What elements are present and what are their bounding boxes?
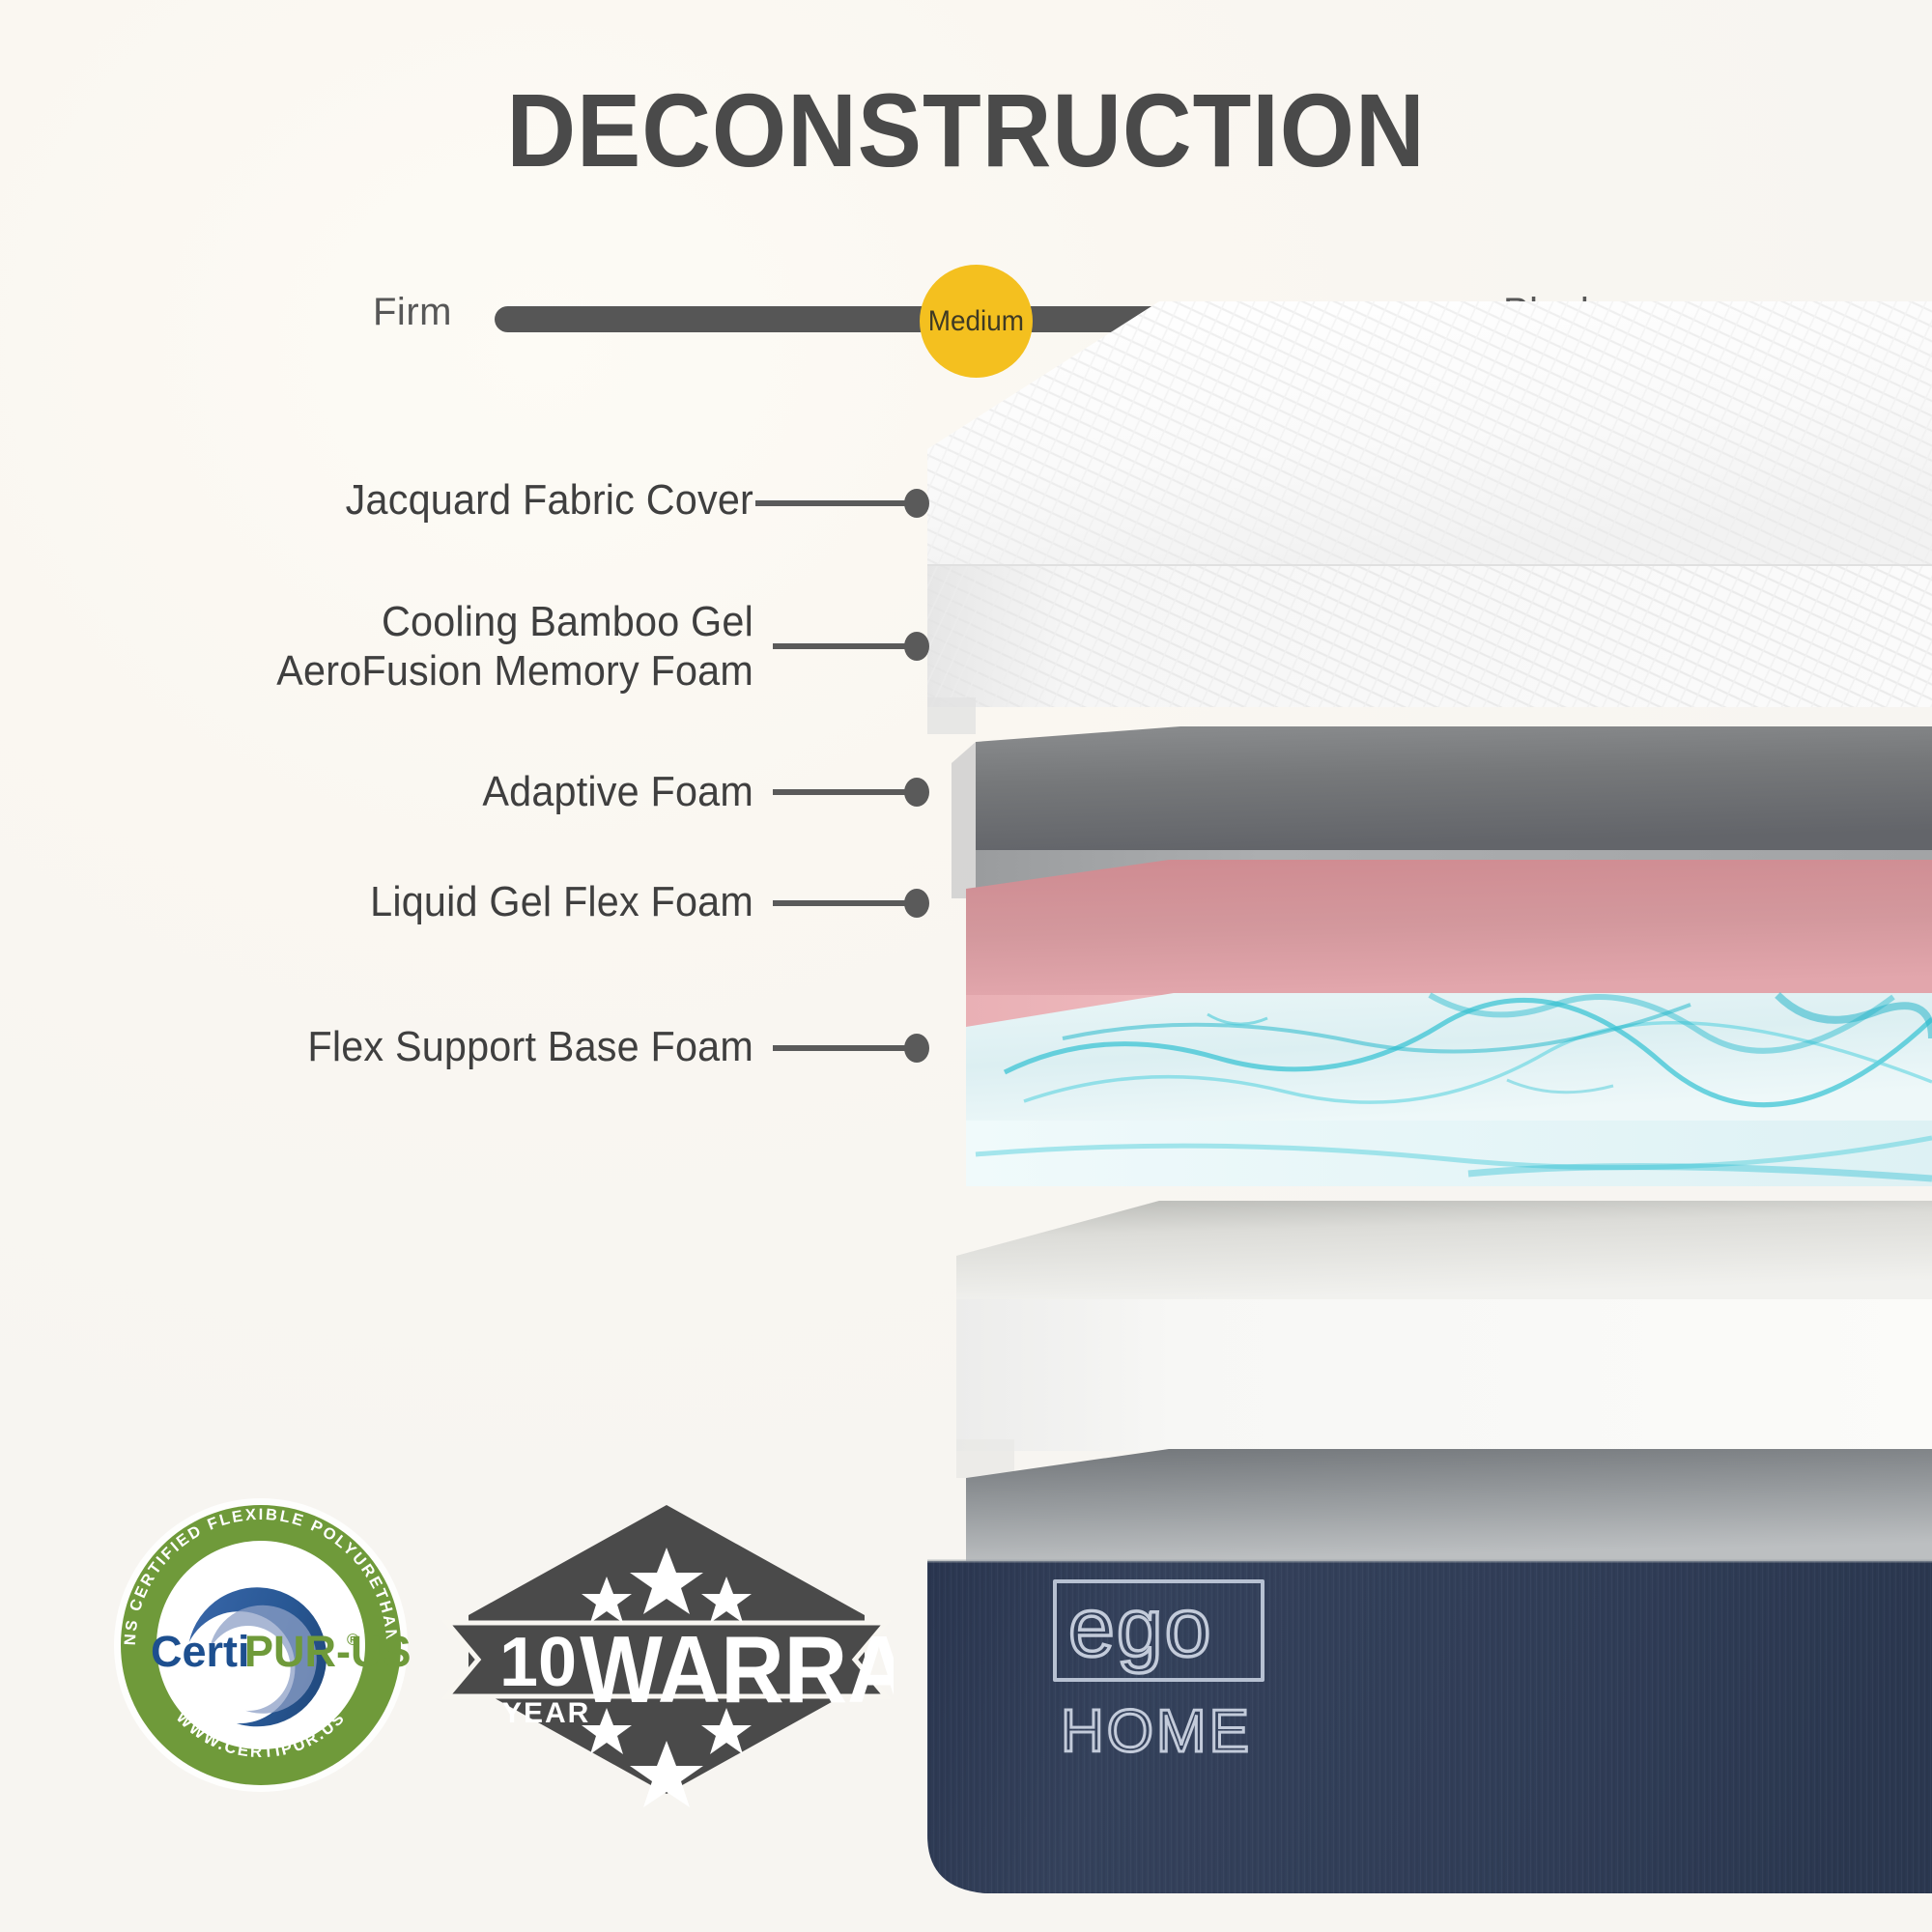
layer-liquid-gel-flex-foam: [966, 993, 1932, 1186]
callout-label-flex-support-base-foam: Flex Support Base Foam: [136, 1022, 753, 1071]
callout-label-adaptive-foam: Adaptive Foam: [172, 767, 753, 816]
leader-dot-adaptive-foam: [904, 778, 929, 807]
warranty-badge: 10 YEAR WARRANTY: [440, 1488, 894, 1811]
callout-label-cooling-bamboo-gel-aerofusion-memory-foam: Cooling Bamboo Gel AeroFusion Memory Foa…: [99, 597, 753, 696]
infographic-canvas: DECONSTRUCTION Firm Plush Medium: [0, 0, 1932, 1932]
svg-text:PUR-US: PUR-US: [244, 1627, 412, 1676]
certipur-wordmark: Certi PUR-US ®: [151, 1627, 412, 1676]
warranty-period: YEAR: [502, 1697, 590, 1729]
callout-label-liquid-gel-flex-foam: Liquid Gel Flex Foam: [172, 877, 753, 926]
leader-dot-jacquard-fabric-cover: [904, 489, 929, 518]
warranty-word: WARRANTY: [580, 1616, 894, 1722]
leader-line-cooling-bamboo-gel-aerofusion-memory-foam: [773, 643, 918, 649]
leader-dot-flex-support-base-foam: [904, 1034, 929, 1063]
leader-dot-cooling-bamboo-gel-aerofusion-memory-foam: [904, 632, 929, 661]
ego-home-subtext: HOME: [1061, 1697, 1252, 1766]
layer-jacquard-fabric-cover: [927, 301, 1932, 734]
svg-text:Certi: Certi: [151, 1627, 250, 1676]
brand-logo-ego-home: ego HOME: [1053, 1579, 1314, 1773]
layer-flex-support-base-foam: [956, 1201, 1932, 1478]
callout-label-jacquard-fabric-cover: Jacquard Fabric Cover: [172, 475, 753, 525]
leader-line-flex-support-base-foam: [773, 1045, 918, 1051]
leader-line-liquid-gel-flex-foam: [773, 900, 918, 906]
warranty-number: 10: [499, 1624, 577, 1701]
leader-dot-liquid-gel-flex-foam: [904, 889, 929, 918]
leader-line-adaptive-foam: [773, 789, 918, 795]
certipur-us-badge: CONTAINS CERTIFIED FLEXIBLE POLYURETHANE…: [108, 1492, 413, 1798]
svg-text:®: ®: [347, 1631, 359, 1649]
ego-wordmark: ego: [1068, 1589, 1213, 1668]
leader-line-jacquard-fabric-cover: [755, 500, 918, 506]
